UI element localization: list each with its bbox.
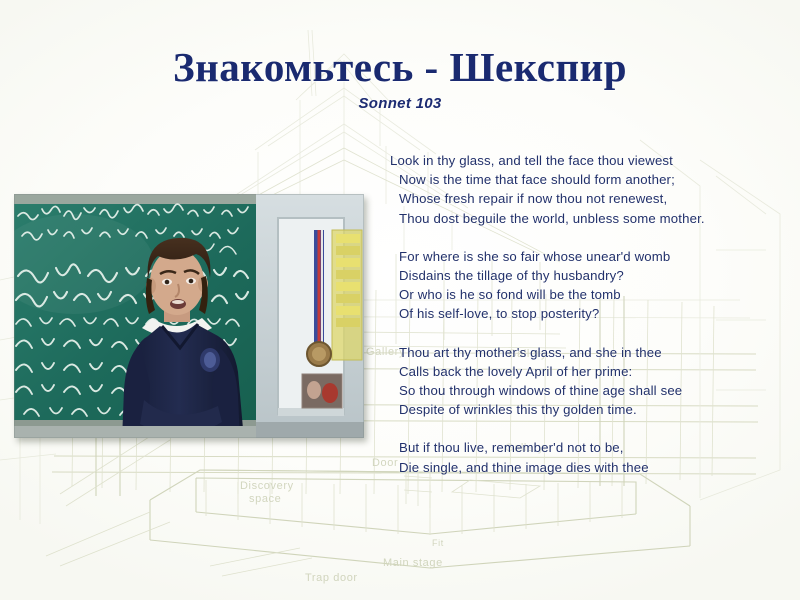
poem-line: Disdains the tillage of thy husbandry?	[390, 266, 790, 285]
classroom-photo	[14, 194, 364, 438]
poem-line: So thou through windows of thine age sha…	[390, 381, 790, 400]
presentation-slide: rooms Discovery space Door Gallery Galle…	[0, 0, 800, 600]
drawing-label-trap-door: Trap door	[305, 572, 358, 584]
poem-line: Calls back the lovely April of her prime…	[390, 362, 790, 381]
poem-line: But if thou live, remember'd not to be,	[390, 438, 790, 457]
drawing-label-fit: Fit	[432, 538, 444, 548]
stanza-2: For where is she so fair whose unear'd w…	[390, 247, 790, 324]
stanza-4: But if thou live, remember'd not to be, …	[390, 438, 790, 476]
poem-line: Thou dost beguile the world, unbless som…	[390, 209, 790, 228]
poem-line: Thou art thy mother's glass, and she in …	[390, 343, 790, 362]
drawing-label-main-stage: Main stage	[383, 557, 443, 569]
stanza-3: Thou art thy mother's glass, and she in …	[390, 343, 790, 420]
poem-line: Despite of wrinkles this thy golden time…	[390, 400, 790, 419]
sonnet-text: Look in thy glass, and tell the face tho…	[390, 151, 790, 477]
poem-line: Whose fresh repair if now thou not renew…	[390, 189, 790, 208]
drawing-label-discovery: Discovery	[240, 480, 294, 492]
poem-line: Or who is he so fond will be the tomb	[390, 285, 790, 304]
poem-line: Of his self-love, to stop posterity?	[390, 304, 790, 323]
poem-line: Look in thy glass, and tell the face tho…	[390, 151, 790, 170]
poem-line: For where is she so fair whose unear'd w…	[390, 247, 790, 266]
drawing-label-space: space	[249, 493, 281, 505]
poem-line: Die single, and thine image dies with th…	[390, 458, 790, 477]
poem-line: Now is the time that face should form an…	[390, 170, 790, 189]
stanza-1: Look in thy glass, and tell the face tho…	[390, 151, 790, 228]
